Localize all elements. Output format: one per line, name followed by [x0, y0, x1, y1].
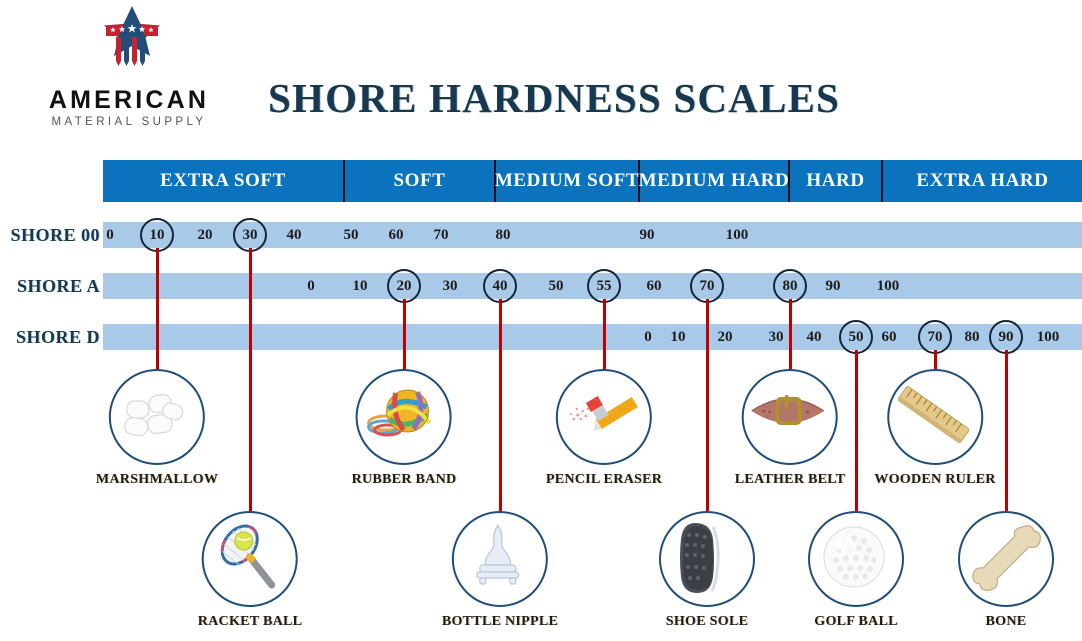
bottle-nipple-icon — [452, 511, 548, 607]
tick-value: 30 — [243, 227, 258, 244]
brand-name: AMERICAN — [24, 86, 234, 115]
scale-label-shore-d: SHORE D — [0, 327, 100, 348]
wooden-ruler-icon — [887, 369, 983, 465]
tick-value: 100 — [726, 227, 749, 244]
tick-value: 80 — [783, 278, 798, 295]
scale-label-shore-a: SHORE A — [0, 276, 100, 297]
item-label: SHOE SOLE — [659, 614, 755, 630]
item-label: RACKET BALL — [198, 614, 303, 630]
connector-line — [1005, 350, 1008, 511]
item-bone[interactable]: BONE — [958, 511, 1054, 630]
category-cell-extra-hard[interactable]: EXTRA HARD — [883, 160, 1082, 202]
category-cell-medium-soft[interactable]: MEDIUM SOFT — [496, 160, 640, 202]
tick-value: 80 — [965, 329, 980, 346]
page-title: SHORE HARDNESS SCALES — [268, 74, 840, 122]
marshmallow-icon — [109, 369, 205, 465]
item-shoe-sole[interactable]: SHOE SOLE — [659, 511, 755, 630]
tick-value: 60 — [882, 329, 897, 346]
tick-value: 50 — [549, 278, 564, 295]
tick-value: 40 — [493, 278, 508, 295]
scale-label-shore-00: SHORE 00 — [0, 225, 100, 246]
connector-line — [603, 299, 606, 369]
item-rubber-band[interactable]: RUBBER BAND — [352, 369, 457, 488]
item-label: GOLF BALL — [808, 614, 904, 630]
item-leather-belt[interactable]: LEATHER BELT — [735, 369, 846, 488]
item-label: LEATHER BELT — [735, 472, 846, 488]
item-pencil-eraser[interactable]: PENCIL ERASER — [546, 369, 662, 488]
item-wooden-ruler[interactable]: WOODEN RULER — [874, 369, 995, 488]
american-star-shield-icon — [86, 4, 178, 66]
connector-line — [706, 299, 709, 511]
infographic-canvas: AMERICAN MATERIAL SUPPLY SHORE HARDNESS … — [0, 0, 1082, 641]
item-marshmallow[interactable]: MARSHMALLOW — [96, 369, 218, 488]
connector-line — [855, 350, 858, 511]
connector-line — [789, 299, 792, 369]
tick-value: 80 — [496, 227, 511, 244]
tick-value: 50 — [849, 329, 864, 346]
tick-value: 70 — [700, 278, 715, 295]
category-cell-extra-soft[interactable]: EXTRA SOFT — [103, 160, 345, 202]
bone-icon — [958, 511, 1054, 607]
item-racket-ball[interactable]: RACKET BALL — [198, 511, 303, 630]
tick-value: 90 — [999, 329, 1014, 346]
tick-value: 30 — [769, 329, 784, 346]
tick-value: 70 — [928, 329, 943, 346]
connector-line — [403, 299, 406, 369]
item-label: PENCIL ERASER — [546, 472, 662, 488]
tick-value: 70 — [434, 227, 449, 244]
tick-value: 50 — [344, 227, 359, 244]
rubber-band-icon — [356, 369, 452, 465]
item-label: BOTTLE NIPPLE — [442, 614, 558, 630]
connector-line — [156, 248, 159, 369]
tick-value: 10 — [150, 227, 165, 244]
tick-value: 90 — [826, 278, 841, 295]
racket-ball-icon — [202, 511, 298, 607]
tick-value: 55 — [597, 278, 612, 295]
tick-value: 60 — [389, 227, 404, 244]
tick-value: 60 — [647, 278, 662, 295]
item-label: MARSHMALLOW — [96, 472, 218, 488]
connector-line — [499, 299, 502, 511]
tick-value: 10 — [671, 329, 686, 346]
tick-value: 0 — [106, 227, 114, 244]
tick-value: 40 — [287, 227, 302, 244]
shoe-sole-icon — [659, 511, 755, 607]
tick-value: 100 — [877, 278, 900, 295]
tick-value: 30 — [443, 278, 458, 295]
connector-line — [934, 350, 937, 369]
connector-line — [249, 248, 252, 511]
tick-value: 20 — [718, 329, 733, 346]
category-cell-medium-hard[interactable]: MEDIUM HARD — [640, 160, 790, 202]
tick-value: 90 — [640, 227, 655, 244]
category-cell-hard[interactable]: HARD — [790, 160, 883, 202]
tick-value: 40 — [807, 329, 822, 346]
leather-belt-icon — [742, 369, 838, 465]
brand-logo: AMERICAN MATERIAL SUPPLY — [24, 4, 234, 134]
item-label: RUBBER BAND — [352, 472, 457, 488]
category-header-band: EXTRA SOFTSOFTMEDIUM SOFTMEDIUM HARDHARD… — [103, 160, 1082, 202]
item-label: BONE — [958, 614, 1054, 630]
golf-ball-icon — [808, 511, 904, 607]
category-cell-soft[interactable]: SOFT — [345, 160, 496, 202]
tick-value: 100 — [1037, 329, 1060, 346]
tick-value: 20 — [397, 278, 412, 295]
item-bottle-nipple[interactable]: BOTTLE NIPPLE — [442, 511, 558, 630]
tick-value: 20 — [198, 227, 213, 244]
item-label: WOODEN RULER — [874, 472, 995, 488]
tick-value: 0 — [307, 278, 315, 295]
item-golf-ball[interactable]: GOLF BALL — [808, 511, 904, 630]
tick-value: 0 — [644, 329, 652, 346]
pencil-eraser-icon — [556, 369, 652, 465]
brand-tagline: MATERIAL SUPPLY — [24, 116, 234, 128]
tick-value: 10 — [353, 278, 368, 295]
